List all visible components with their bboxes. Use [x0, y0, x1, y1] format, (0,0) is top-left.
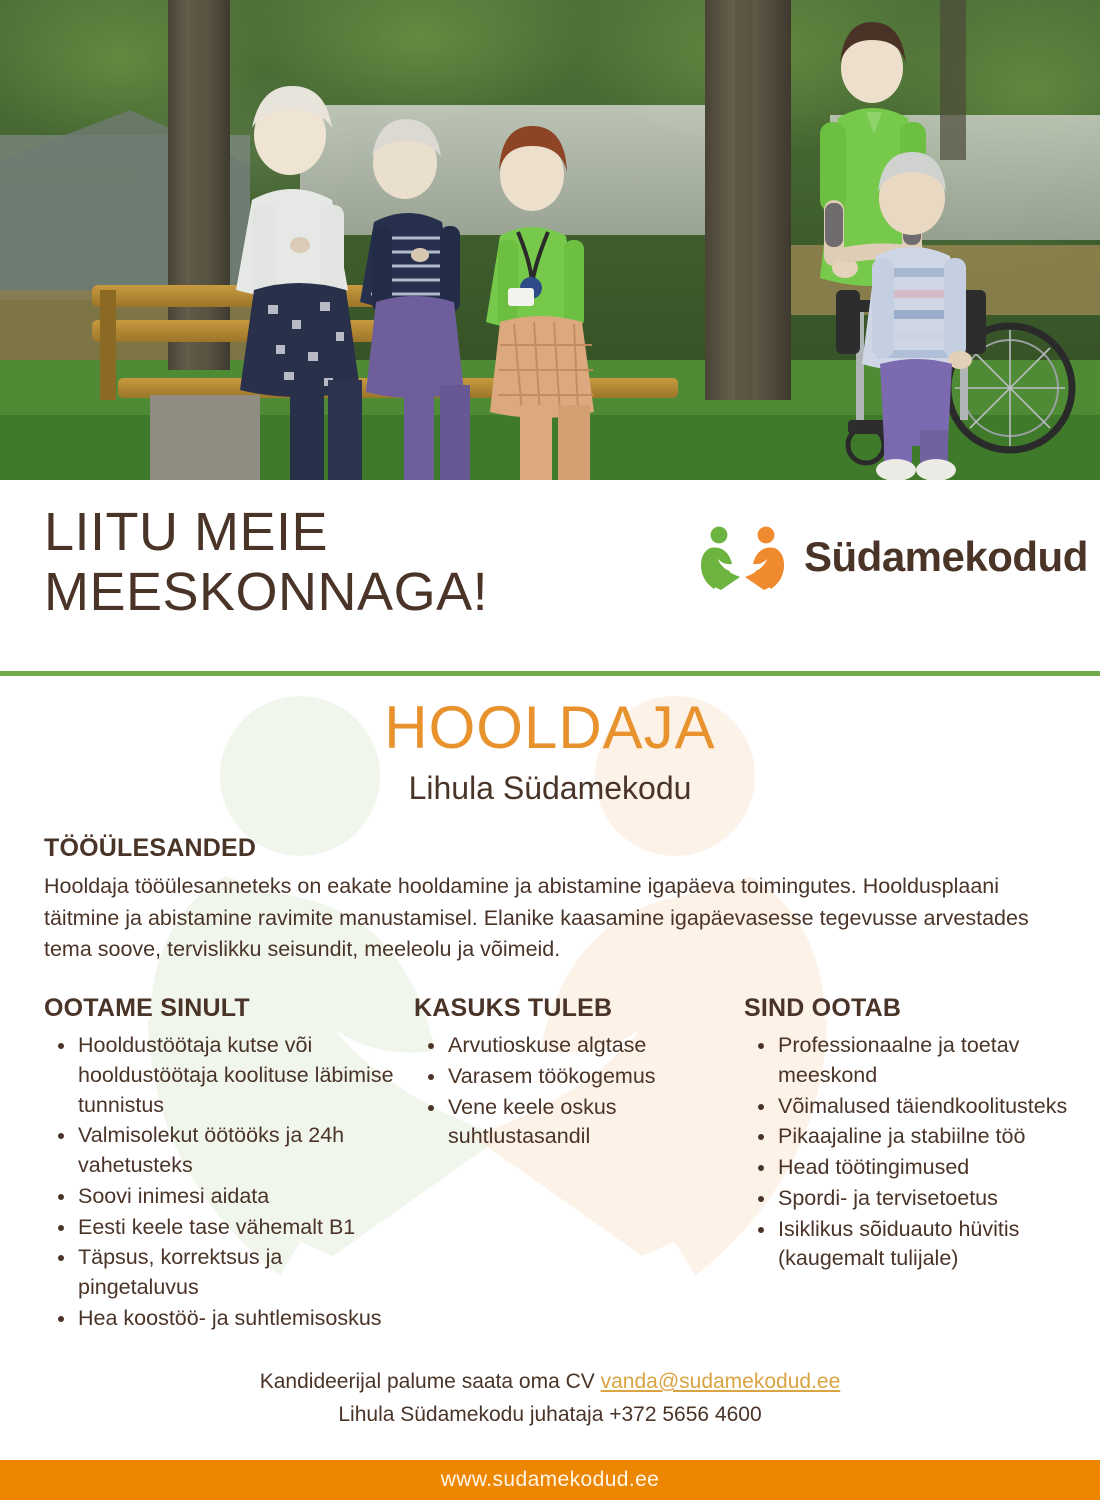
contact-line-2: Lihula Südamekodu juhataja +372 5656 460…: [0, 1399, 1100, 1432]
list-item: Hooldustöötaja kutse või hooldustöötaja …: [44, 1031, 394, 1120]
content-area: HOOLDAJA Lihula Südamekodu TÖÖÜLESANDED …: [0, 676, 1100, 1460]
list-item: Arvutioskuse algtase: [414, 1031, 734, 1061]
list-item: Spordi- ja tervisetoetus: [744, 1184, 1074, 1214]
nice-to-have-column: KASUKS TULEB Arvutioskuse algtase Varase…: [414, 994, 734, 1153]
nice-to-have-list: Arvutioskuse algtase Varasem töökogemus …: [414, 1031, 734, 1152]
brand-logo: Südamekodud: [698, 524, 1088, 590]
list-item: Professionaalne ja toetav meeskond: [744, 1031, 1074, 1091]
requirements-heading: OOTAME SINULT: [44, 994, 394, 1023]
email-link[interactable]: vanda@sudamekodud.ee: [601, 1370, 841, 1393]
duties-heading: TÖÖÜLESANDED: [44, 834, 1059, 863]
list-item: Vene keele oskus suhtlustasandil: [414, 1093, 734, 1153]
hero-photo: [0, 0, 1100, 480]
job-advert-poster: LIITU MEIE MEESKONNAGA! Südamekodud: [0, 0, 1100, 1500]
list-item: Täpsus, korrektsus ja pingetaluvus: [44, 1243, 394, 1303]
contact-line-1: Kandideerijal palume saata oma CV vanda@…: [0, 1366, 1100, 1399]
list-item: Head töötingimused: [744, 1153, 1074, 1183]
list-item: Soovi inimesi aidata: [44, 1182, 394, 1212]
offer-column: SIND OOTAB Professionaalne ja toetav mee…: [744, 994, 1074, 1275]
heart-figures-logo-icon: [698, 524, 790, 590]
contact-block: Kandideerijal palume saata oma CV vanda@…: [0, 1366, 1100, 1431]
requirements-column: OOTAME SINULT Hooldustöötaja kutse või h…: [44, 994, 394, 1335]
list-item: Võimalused täiendkoolitusteks: [744, 1092, 1074, 1122]
list-item: Pikaajaline ja stabiilne töö: [744, 1122, 1074, 1152]
job-title-block: HOOLDAJA Lihula Südamekodu: [0, 698, 1100, 804]
list-item: Eesti keele tase vähemalt B1: [44, 1213, 394, 1243]
job-title: HOOLDAJA: [0, 698, 1100, 758]
nice-to-have-heading: KASUKS TULEB: [414, 994, 734, 1023]
list-item: Valmisolekut öötööks ja 24h vahetusteks: [44, 1121, 394, 1181]
contact-cv-text: Kandideerijal palume saata oma CV: [260, 1370, 601, 1393]
brand-name: Südamekodud: [804, 536, 1088, 578]
footer-bar: www.sudamekodud.ee: [0, 1460, 1100, 1500]
job-location: Lihula Südamekodu: [0, 772, 1100, 804]
duties-section: TÖÖÜLESANDED Hooldaja tööülesanneteks on…: [44, 834, 1059, 966]
requirements-list: Hooldustöötaja kutse või hooldustöötaja …: [44, 1031, 394, 1334]
website-url[interactable]: www.sudamekodud.ee: [441, 1468, 660, 1492]
offer-list: Professionaalne ja toetav meeskond Võima…: [744, 1031, 1074, 1274]
offer-heading: SIND OOTAB: [744, 994, 1074, 1023]
headline-band: LIITU MEIE MEESKONNAGA! Südamekodud: [0, 480, 1100, 668]
duties-body: Hooldaja tööülesanneteks on eakate hoold…: [44, 871, 1059, 966]
list-item: Isiklikus sõiduauto hüvitis (kaugemalt t…: [744, 1215, 1074, 1275]
page-title: LIITU MEIE MEESKONNAGA!: [44, 502, 488, 623]
list-item: Varasem töökogemus: [414, 1062, 734, 1092]
park-photo-illustration: [0, 0, 1100, 480]
list-item: Hea koostöö- ja suhtlemisoskus: [44, 1304, 394, 1334]
